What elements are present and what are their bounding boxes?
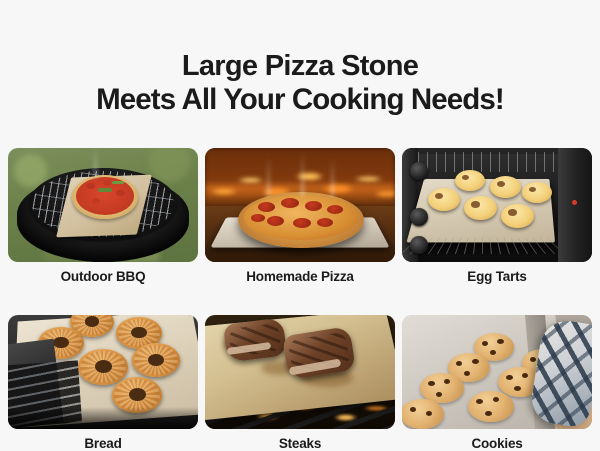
chocolate-chip [493,397,499,402]
steam-wisp [331,158,334,196]
use-case-grid: Outdoor BBQ [8,148,592,451]
pepperoni [251,214,265,222]
photo-bread [8,315,198,429]
scene-bread [8,315,198,429]
headline: Large Pizza Stone Meets All Your Cooking… [0,50,600,116]
egg-tart [455,170,485,191]
scene-cookies [402,315,592,429]
egg-tart [464,196,497,220]
scene-homemade-pizza [205,148,395,262]
tile-egg-tarts[interactable]: Egg Tarts [402,148,592,284]
photo-cookies [402,315,592,429]
tile-caption: Homemade Pizza [205,269,395,284]
cookie [402,399,444,429]
tile-caption: Egg Tarts [402,269,592,284]
oven-knob [410,162,428,180]
pizza-topping-herb [98,188,112,192]
pepperoni [267,216,284,226]
egg-tart [490,176,521,198]
chocolate-chip [410,407,416,412]
chocolate-chip [485,411,492,416]
pepperoni [327,205,343,214]
oven-shadow [8,407,198,429]
pepperoni [317,218,333,227]
scene-outdoor-bbq [8,148,198,262]
tile-caption: Bread [8,436,198,451]
oven-knob [410,208,428,226]
steam-wisp [301,150,304,196]
tile-steaks[interactable]: Steaks [205,315,395,451]
chocolate-chip [476,399,483,404]
chocolate-chip [497,339,504,344]
photo-homemade-pizza [205,148,395,262]
chocolate-chip [464,371,470,376]
chocolate-chip [456,361,462,366]
pizza-topping [92,198,100,204]
tile-homemade-pizza[interactable]: Homemade Pizza [205,148,395,284]
photo-outdoor-bbq [8,148,198,262]
tile-bread[interactable]: Bread [8,315,198,451]
pepperoni [258,202,275,212]
pizza-topping-herb [112,181,124,184]
bread-roll [78,349,128,385]
chocolate-chip [522,373,528,378]
product-infographic-poster: Large Pizza Stone Meets All Your Cooking… [0,0,600,450]
tile-caption: Cookies [402,436,592,451]
chocolate-chip [428,381,435,386]
chocolate-chip [444,379,450,384]
pizza-topping [103,180,111,186]
headline-line-1: Large Pizza Stone [182,50,418,82]
grid-row-2: Bread [8,315,592,451]
chocolate-chip [514,386,521,391]
grid-row-1: Outdoor BBQ [8,148,592,284]
pepperoni [293,218,311,228]
bread-roll [132,343,180,377]
chocolate-chip [506,375,513,380]
steam-wisp [267,156,270,196]
egg-tart [428,188,460,211]
chocolate-chip [530,357,536,362]
oven-heating-element [418,152,558,172]
chocolate-chip [426,411,432,416]
scene-egg-tarts [402,148,592,262]
oven-control-panel [558,148,592,262]
chocolate-chip [482,341,488,346]
scene-steaks [205,315,395,429]
tile-cookies[interactable]: Cookies [402,315,592,451]
egg-tart [522,182,552,203]
chocolate-chip [436,392,442,397]
photo-steaks [205,315,395,429]
chocolate-chip [490,350,496,355]
smoke-wisp [94,148,97,178]
pepperoni [281,198,299,208]
pepperoni [305,201,322,211]
oven-knob [410,236,428,254]
pizza-topping [86,183,95,189]
chocolate-chip [472,359,479,364]
pizza-topping [116,190,125,196]
tile-outdoor-bbq[interactable]: Outdoor BBQ [8,148,198,284]
tile-caption: Steaks [205,436,395,451]
oven-indicator-light [572,200,577,205]
cookie [468,391,514,422]
tile-caption: Outdoor BBQ [8,269,198,284]
egg-tart [501,204,534,228]
headline-line-2: Meets All Your Cooking Needs! [0,83,600,116]
photo-egg-tarts [402,148,592,262]
